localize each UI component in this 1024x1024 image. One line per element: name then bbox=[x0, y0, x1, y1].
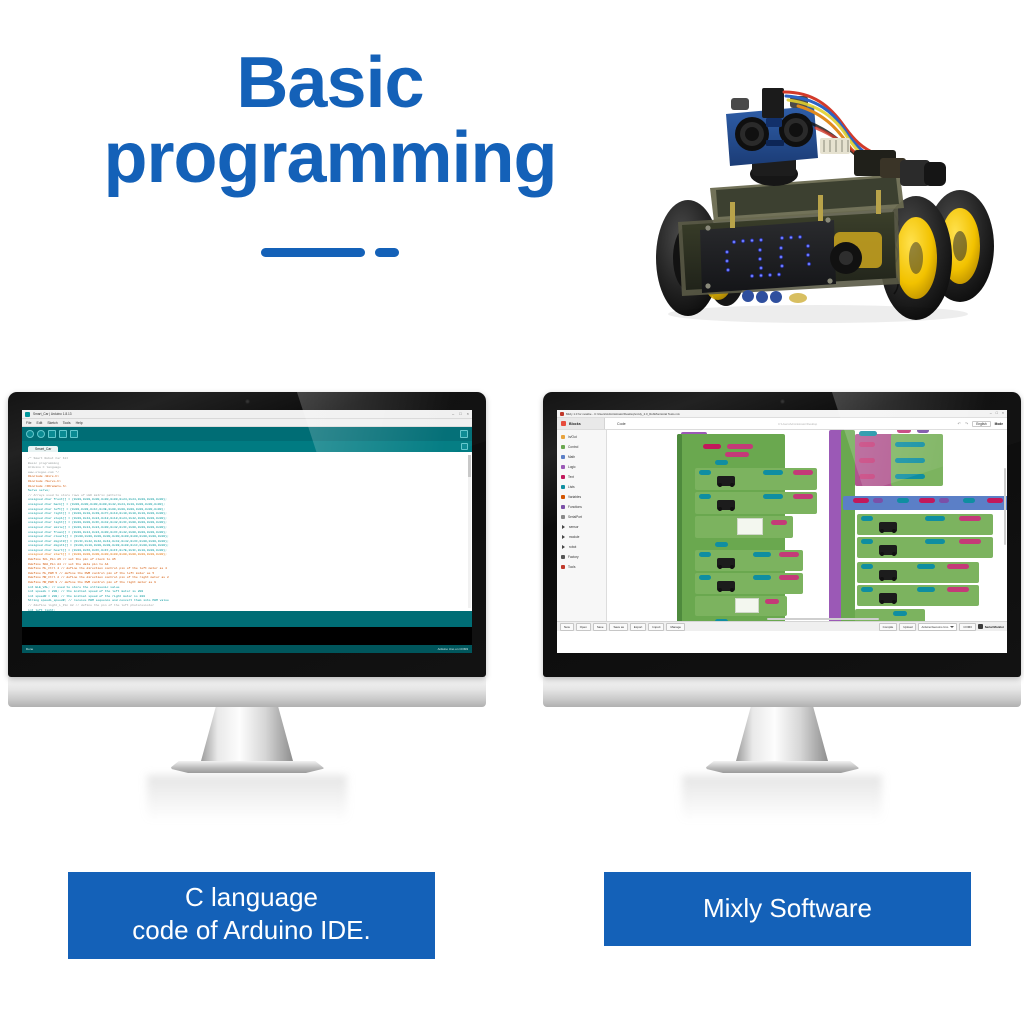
mixly-window-controls[interactable]: – □ × bbox=[990, 412, 1004, 416]
canvas-h-scrollbar[interactable] bbox=[767, 618, 879, 620]
sidebar-item-robot[interactable]: robot bbox=[557, 542, 606, 552]
sidebar-item-variables[interactable]: Variables bbox=[557, 492, 606, 502]
code-line: int left_light; bbox=[28, 608, 467, 611]
mixly-tab-row[interactable]: Blocks Code C:\Users\Administrator\Deskt… bbox=[557, 418, 1007, 430]
poster-canvas: Basic programming bbox=[0, 0, 1024, 1024]
caption-arduino-line-2: code of Arduino IDE. bbox=[78, 914, 425, 947]
monitor-arduino-ide: Smart_Car | Arduino 1.8.13 – □ × File Ed… bbox=[8, 392, 486, 821]
block-motor-id-pill[interactable] bbox=[861, 516, 873, 521]
monitor-base-left bbox=[170, 761, 325, 773]
compile-button[interactable]: Compile bbox=[879, 623, 898, 631]
ide-tab-bar[interactable]: Smart_Car bbox=[22, 441, 472, 452]
caption-arduino: C language code of Arduino IDE. bbox=[68, 872, 435, 959]
port-select[interactable]: COM3 bbox=[959, 623, 975, 631]
block-case-pill[interactable] bbox=[715, 542, 728, 547]
tab-code[interactable]: Code bbox=[605, 422, 638, 426]
page-title: Basic programming bbox=[0, 48, 660, 193]
block-choose-pill[interactable] bbox=[765, 599, 779, 604]
import-button[interactable]: Import bbox=[648, 623, 664, 631]
motor-icon bbox=[717, 581, 735, 591]
block-cond-pill[interactable] bbox=[987, 498, 1003, 503]
block-num-pill[interactable] bbox=[963, 498, 975, 503]
mixly-category-sidebar[interactable]: In/Out Control Math Logic Text Lists Var… bbox=[557, 430, 607, 621]
block-tracking-pill[interactable] bbox=[895, 458, 925, 463]
mode-label[interactable]: Mode bbox=[995, 422, 1003, 426]
monitor-bezel-left: Smart_Car | Arduino 1.8.13 – □ × File Ed… bbox=[8, 392, 486, 677]
sidebar-item-label: Functions bbox=[568, 505, 582, 509]
caption-arduino-line-1: C language bbox=[78, 881, 425, 914]
sidebar-item-label: Text bbox=[568, 475, 574, 479]
block-direction-pill[interactable] bbox=[753, 552, 771, 557]
monitor-bezel-right: Mixly 1.0 for newbie - C:\Users\Administ… bbox=[543, 392, 1021, 677]
sidebar-item-label: Math bbox=[568, 455, 575, 459]
mixly-top-right-controls[interactable]: ↶ ↷ English Mode bbox=[957, 421, 1007, 427]
robot-car-photo bbox=[648, 62, 1020, 330]
monitor-base-right bbox=[705, 761, 860, 773]
sidebar-item-label: Tools bbox=[568, 565, 575, 569]
sidebar-item-label: sensor bbox=[569, 525, 579, 529]
logic-icon bbox=[561, 465, 565, 469]
title-line-1: Basic bbox=[0, 48, 660, 119]
block-direction-pill[interactable] bbox=[763, 494, 783, 499]
motor-icon bbox=[879, 545, 897, 555]
block-direction-pill[interactable] bbox=[763, 470, 783, 475]
mixly-window: Mixly 1.0 for newbie - C:\Users\Administ… bbox=[557, 410, 1007, 653]
chevron-right-icon bbox=[562, 545, 565, 549]
sidebar-item-logic[interactable]: Logic bbox=[557, 462, 606, 472]
upload-icon[interactable] bbox=[37, 430, 45, 438]
motor-icon bbox=[879, 570, 897, 580]
mixly-path-text: C:\Users\Administrator\Desktop bbox=[638, 422, 958, 426]
open-sketch-icon[interactable] bbox=[59, 430, 67, 438]
block-direction-pill[interactable] bbox=[917, 564, 935, 569]
block-value-pill[interactable] bbox=[859, 458, 875, 463]
block-op-pill[interactable] bbox=[939, 498, 949, 503]
block-motor-id-pill[interactable] bbox=[699, 494, 711, 499]
block-pin-pill[interactable] bbox=[897, 430, 911, 433]
arduino-ide-window: Smart_Car | Arduino 1.8.13 – □ × File Ed… bbox=[22, 410, 472, 653]
underline-short-dash bbox=[375, 248, 399, 257]
ide-console-panel bbox=[22, 611, 472, 627]
text-icon bbox=[561, 475, 565, 479]
status-right-text: Arduino Uno on COM3 bbox=[438, 647, 468, 651]
mixly-title-bar: Mixly 1.0 for newbie - C:\Users\Administ… bbox=[557, 410, 1007, 418]
ide-window-controls[interactable]: – □ × bbox=[452, 412, 469, 416]
serial-monitor-icon[interactable] bbox=[460, 430, 468, 438]
sidebar-item-tools[interactable]: Tools bbox=[557, 562, 606, 572]
block-motor-id-pill[interactable] bbox=[699, 575, 711, 580]
variables-icon bbox=[561, 495, 565, 499]
menu-help[interactable]: Help bbox=[76, 421, 83, 425]
block-direction-pill[interactable] bbox=[925, 539, 945, 544]
block-delay-value-pill[interactable] bbox=[893, 611, 907, 616]
sidebar-item-label: Control bbox=[568, 445, 578, 449]
arduino-logo-icon bbox=[25, 412, 30, 417]
sidebar-item-text[interactable]: Text bbox=[557, 472, 606, 482]
tab-menu-icon[interactable] bbox=[461, 443, 468, 450]
tools-icon bbox=[561, 565, 565, 569]
title-line-2: programming bbox=[0, 123, 660, 194]
block-direction-pill[interactable] bbox=[917, 587, 935, 592]
block-speed-pill[interactable] bbox=[947, 587, 969, 592]
tab-blocks-label: Blocks bbox=[569, 422, 581, 426]
motor-icon bbox=[879, 593, 897, 603]
serialport-icon bbox=[561, 515, 565, 519]
mixly-blocks-canvas[interactable] bbox=[607, 430, 1007, 621]
ide-toolbar[interactable] bbox=[22, 427, 472, 441]
upload-button[interactable]: Upload bbox=[899, 623, 916, 631]
led-matrix-preview[interactable] bbox=[735, 598, 759, 613]
functions-icon bbox=[561, 505, 565, 509]
sidebar-item-math[interactable]: Math bbox=[557, 452, 606, 462]
block-switch-pill[interactable] bbox=[725, 452, 749, 457]
block-speed-pill[interactable] bbox=[793, 470, 813, 475]
motor-icon bbox=[717, 500, 735, 510]
monitor-mixly: Mixly 1.0 for newbie - C:\Users\Administ… bbox=[543, 392, 1021, 821]
block-motor-id-pill[interactable] bbox=[699, 552, 711, 557]
motor-icon bbox=[717, 558, 735, 568]
inout-icon bbox=[561, 435, 565, 439]
control-icon bbox=[561, 445, 565, 449]
block-motor-id-pill[interactable] bbox=[861, 539, 873, 544]
block-speed-pill[interactable] bbox=[779, 552, 799, 557]
sidebar-item-label: robot bbox=[569, 545, 576, 549]
serial-toggle-icon[interactable] bbox=[978, 624, 983, 629]
led-matrix-preview[interactable] bbox=[737, 518, 763, 535]
sidebar-item-inout[interactable]: In/Out bbox=[557, 432, 606, 442]
save-sketch-icon[interactable] bbox=[70, 430, 78, 438]
block-tracking-pill[interactable] bbox=[895, 442, 925, 447]
block-speed-pill[interactable] bbox=[779, 575, 799, 580]
title-underline bbox=[0, 248, 660, 257]
block-value-pill[interactable] bbox=[859, 442, 875, 447]
ide-code-editor[interactable]: /* Smart Robot Car Kit Basic programming… bbox=[22, 452, 472, 611]
motor-icon bbox=[717, 476, 735, 486]
block-repeat-pill[interactable] bbox=[859, 431, 877, 436]
blocks-icon bbox=[561, 421, 566, 426]
sidebar-item-sensor[interactable]: sensor bbox=[557, 522, 606, 532]
block-cond-pill[interactable] bbox=[919, 498, 935, 503]
chevron-right-icon bbox=[562, 535, 565, 539]
factory-icon bbox=[561, 555, 565, 559]
sidebar-item-label: Factory bbox=[568, 555, 579, 559]
maximize-icon[interactable]: □ bbox=[459, 412, 461, 416]
monitor-chin-right bbox=[543, 677, 1021, 707]
mixly-bottom-toolbar[interactable]: New Open Save Save as Export Import Mana… bbox=[557, 621, 1007, 631]
block-direction-pill[interactable] bbox=[925, 516, 945, 521]
tab-blocks[interactable]: Blocks bbox=[557, 418, 605, 429]
block-tracking-pill[interactable] bbox=[895, 474, 925, 479]
manage-button[interactable]: Manage bbox=[666, 623, 684, 631]
block-speed-pill[interactable] bbox=[959, 539, 981, 544]
close-icon[interactable]: × bbox=[467, 412, 469, 416]
block-op-pill[interactable] bbox=[917, 430, 929, 433]
block-port-pill[interactable] bbox=[703, 444, 721, 449]
open-button[interactable]: Open bbox=[576, 623, 591, 631]
ide-title-bar: Smart_Car | Arduino 1.8.13 – □ × bbox=[22, 410, 472, 419]
language-select[interactable]: English bbox=[972, 421, 990, 427]
sidebar-item-control[interactable]: Control bbox=[557, 442, 606, 452]
screen-left: Smart_Car | Arduino 1.8.13 – □ × File Ed… bbox=[22, 410, 472, 653]
ide-window-title: Smart_Car | Arduino 1.8.13 bbox=[33, 412, 449, 416]
lists-icon bbox=[561, 485, 565, 489]
math-icon bbox=[561, 455, 565, 459]
block-direction-pill[interactable] bbox=[753, 575, 771, 580]
save-as-button[interactable]: Save as bbox=[609, 623, 627, 631]
block-value-pill[interactable] bbox=[727, 444, 753, 449]
block-cond-pill[interactable] bbox=[853, 498, 869, 503]
block-choose-pill[interactable] bbox=[771, 520, 787, 525]
serial-monitor-label[interactable]: Serial Monitor bbox=[985, 625, 1004, 629]
underline-long-dash bbox=[261, 248, 365, 257]
canvas-v-scrollbar[interactable] bbox=[1004, 468, 1006, 544]
block-group-spine-left[interactable] bbox=[677, 434, 682, 621]
mixly-logo-icon bbox=[560, 412, 564, 416]
sidebar-item-label: Lists bbox=[568, 485, 575, 489]
sidebar-item-label: In/Out bbox=[568, 435, 577, 439]
board-select[interactable]: Arduino/Genuino Uno bbox=[918, 623, 957, 631]
export-button[interactable]: Export bbox=[630, 623, 646, 631]
code-scrollbar[interactable] bbox=[468, 455, 471, 608]
sidebar-item-lists[interactable]: Lists bbox=[557, 482, 606, 492]
sidebar-item-label: SerialPort bbox=[568, 515, 582, 519]
undo-icon[interactable]: ↶ bbox=[957, 421, 960, 426]
minimize-icon[interactable]: – bbox=[452, 412, 454, 416]
verify-icon[interactable] bbox=[26, 430, 34, 438]
menu-tools[interactable]: Tools bbox=[63, 421, 71, 425]
menu-edit[interactable]: Edit bbox=[36, 421, 42, 425]
redo-icon[interactable]: ↷ bbox=[965, 421, 968, 426]
mixly-body: In/Out Control Math Logic Text Lists Var… bbox=[557, 430, 1007, 621]
block-group-spine-right[interactable] bbox=[841, 430, 855, 621]
close-icon[interactable]: × bbox=[1002, 412, 1004, 416]
block-speed-pill[interactable] bbox=[947, 564, 969, 569]
monitor-neck-right bbox=[736, 707, 828, 761]
sidebar-item-serialport[interactable]: SerialPort bbox=[557, 512, 606, 522]
block-num-pill[interactable] bbox=[897, 498, 909, 503]
block-motor-id-pill[interactable] bbox=[699, 470, 711, 475]
caption-mixly-line-1: Mixly Software bbox=[614, 892, 961, 925]
block-motor-id-pill[interactable] bbox=[861, 564, 873, 569]
new-sketch-icon[interactable] bbox=[48, 430, 56, 438]
sidebar-item-label: Logic bbox=[568, 465, 576, 469]
sidebar-item-label: Variables bbox=[568, 495, 581, 499]
monitor-neck-left bbox=[201, 707, 293, 761]
block-speed-pill[interactable] bbox=[793, 494, 813, 499]
webcam-dot-right bbox=[780, 399, 785, 404]
menu-file[interactable]: File bbox=[26, 421, 31, 425]
ide-output-panel bbox=[22, 627, 472, 645]
caption-mixly: Mixly Software bbox=[604, 872, 971, 946]
block-op-pill[interactable] bbox=[873, 498, 883, 503]
monitor-reflection-left bbox=[147, 775, 347, 821]
ide-menu-bar[interactable]: File Edit Sketch Tools Help bbox=[22, 419, 472, 427]
maximize-icon[interactable]: □ bbox=[996, 412, 998, 416]
menu-sketch[interactable]: Sketch bbox=[47, 421, 57, 425]
motor-icon bbox=[879, 522, 897, 532]
save-button[interactable]: Save bbox=[593, 623, 608, 631]
mixly-window-title: Mixly 1.0 for newbie - C:\Users\Administ… bbox=[566, 412, 988, 416]
block-value-pill[interactable] bbox=[859, 474, 875, 479]
sidebar-item-label: module bbox=[569, 535, 579, 539]
mixly-output-area bbox=[557, 631, 1007, 653]
block-case-pill[interactable] bbox=[715, 460, 728, 465]
block-case-pill[interactable] bbox=[715, 619, 728, 621]
chevron-right-icon bbox=[562, 525, 565, 529]
minimize-icon[interactable]: – bbox=[990, 412, 992, 416]
block-motor-id-pill[interactable] bbox=[861, 587, 873, 592]
block-speed-pill[interactable] bbox=[959, 516, 981, 521]
screen-right: Mixly 1.0 for newbie - C:\Users\Administ… bbox=[557, 410, 1007, 653]
webcam-dot-left bbox=[245, 399, 250, 404]
sidebar-item-functions[interactable]: Functions bbox=[557, 502, 606, 512]
monitor-chin-left bbox=[8, 677, 486, 707]
status-left-text: Done bbox=[26, 647, 33, 651]
new-button[interactable]: New bbox=[560, 623, 574, 631]
monitor-reflection-right bbox=[682, 775, 882, 821]
ide-status-bar: Done Arduino Uno on COM3 bbox=[22, 645, 472, 653]
sidebar-item-module[interactable]: module bbox=[557, 532, 606, 542]
sidebar-item-factory[interactable]: Factory bbox=[557, 552, 606, 562]
